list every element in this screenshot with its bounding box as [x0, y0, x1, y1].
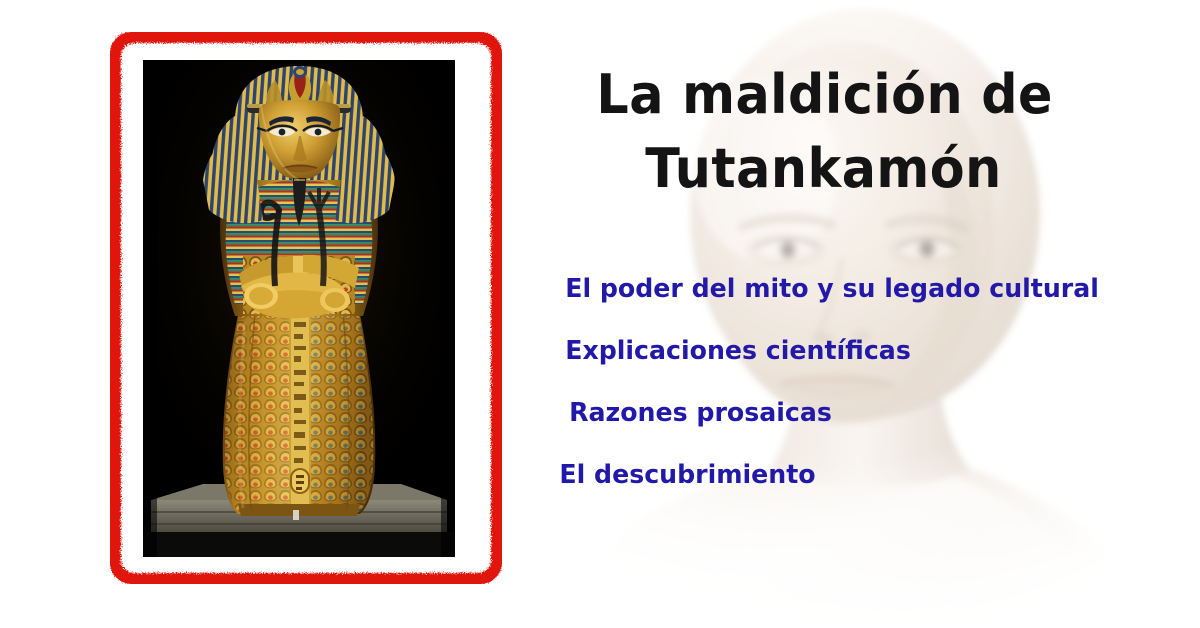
- sarcophagus-photo: [143, 60, 455, 557]
- agenda-item-razones[interactable]: Razones prosaicas: [540, 382, 1161, 444]
- slide-canvas: La maldición de Tutankamón El poder del …: [0, 0, 1200, 628]
- agenda-list: El poder del mito y su legado cultural E…: [540, 258, 1180, 506]
- agenda-item-explicaciones[interactable]: Explicaciones científicas: [540, 320, 1161, 382]
- title-line-2: Tutankamón: [540, 132, 1104, 206]
- agenda-item-descubrimiento[interactable]: El descubrimiento: [540, 444, 1161, 506]
- agenda-item-mito[interactable]: El poder del mito y su legado cultural: [540, 258, 1161, 320]
- title-line-1: La maldición de: [540, 58, 1104, 132]
- sarcophagus-figure: [203, 66, 395, 520]
- sarcophagus-photo-frame: [110, 32, 502, 584]
- page-title: La maldición de Tutankamón: [540, 58, 1140, 206]
